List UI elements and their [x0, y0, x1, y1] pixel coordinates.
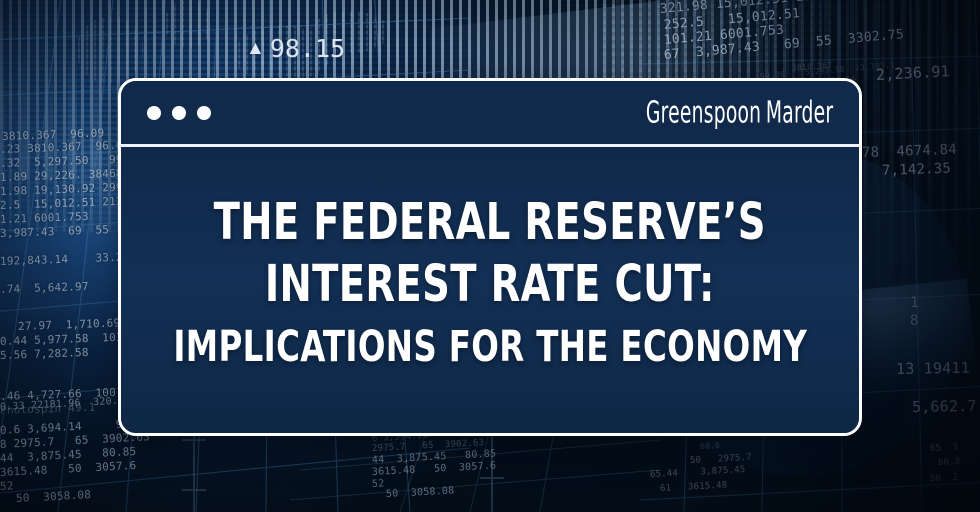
poster-canvas: ▲ 98.15 3810.367 96.09.23 3810.367 96.09…	[0, 0, 980, 512]
brand-logo-part-two: Marder	[766, 95, 833, 130]
window-controls[interactable]	[147, 106, 211, 120]
window-content: THE FEDERAL RESERVE’S INTEREST RATE CUT:…	[121, 147, 859, 433]
window-dot-minimize-icon[interactable]	[172, 106, 186, 120]
headline-line-3: IMPLICATIONS FOR THE ECONOMY	[173, 326, 807, 369]
brand-logo-part-one: Greenspoon	[646, 95, 761, 130]
headline-line-2: INTEREST RATE CUT:	[265, 259, 715, 310]
brand-logo: GreenspoonMarder	[646, 97, 833, 128]
window-dot-close-icon[interactable]	[147, 106, 161, 120]
window-dot-maximize-icon[interactable]	[197, 106, 211, 120]
window-titlebar: GreenspoonMarder	[121, 81, 859, 147]
browser-window-card: GreenspoonMarder THE FEDERAL RESERVE’S I…	[118, 78, 862, 436]
headline-line-1: THE FEDERAL RESERVE’S	[214, 197, 766, 248]
